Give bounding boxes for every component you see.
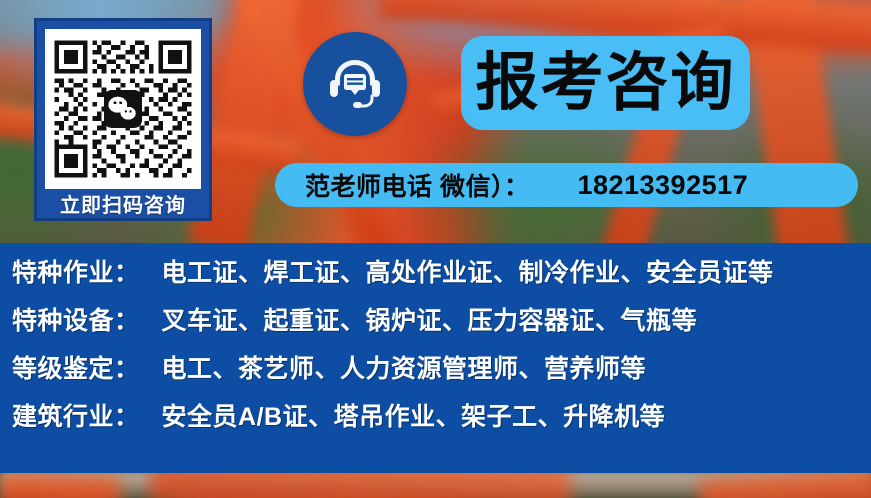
list-item: 特种设备： 叉车证、起重证、锅炉证、压力容器证、气瓶等 [0,301,871,349]
wechat-logo [104,90,142,128]
category-label: 等级鉴定： [12,349,140,385]
contact-label: 范老师电话 微信）： [305,167,529,203]
headset-support-badge [303,32,407,136]
promo-poster: 立即扫码咨询 报考咨询 范老师电话 微信）： 18213392517 特种作业：… [0,0,871,498]
list-item: 建筑行业： 安全员A/B证、塔吊作业、架子工、升降机等 [0,397,871,445]
category-value: 叉车证、起重证、锅炉证、压力容器证、气瓶等 [162,301,698,337]
contact-pill[interactable]: 范老师电话 微信）： 18213392517 [275,163,858,207]
main-title-pill: 报考咨询 [461,36,750,130]
category-label: 特种作业： [12,253,140,289]
category-list: 特种作业： 电工证、焊工证、高处作业证、制冷作业、安全员证等 特种设备： 叉车证… [0,243,871,473]
category-value: 电工证、焊工证、高处作业证、制冷作业、安全员证等 [162,253,774,289]
category-value: 电工、茶艺师、人力资源管理师、营养师等 [162,349,647,385]
contact-number[interactable]: 18213392517 [577,170,748,201]
qr-code-image[interactable] [45,29,201,189]
qr-code-panel[interactable]: 立即扫码咨询 [34,18,212,221]
headset-icon [323,52,387,116]
list-item: 等级鉴定： 电工、茶艺师、人力资源管理师、营养师等 [0,349,871,397]
list-item: 特种作业： 电工证、焊工证、高处作业证、制冷作业、安全员证等 [0,253,871,301]
page-title: 报考咨询 [476,52,736,115]
category-label: 建筑行业： [12,397,140,433]
qr-caption: 立即扫码咨询 [45,189,201,223]
crane-beam [0,472,121,498]
qr-code-svg [45,29,201,189]
category-value: 安全员A/B证、塔吊作业、架子工、升降机等 [162,397,666,433]
category-label: 特种设备： [12,301,140,337]
